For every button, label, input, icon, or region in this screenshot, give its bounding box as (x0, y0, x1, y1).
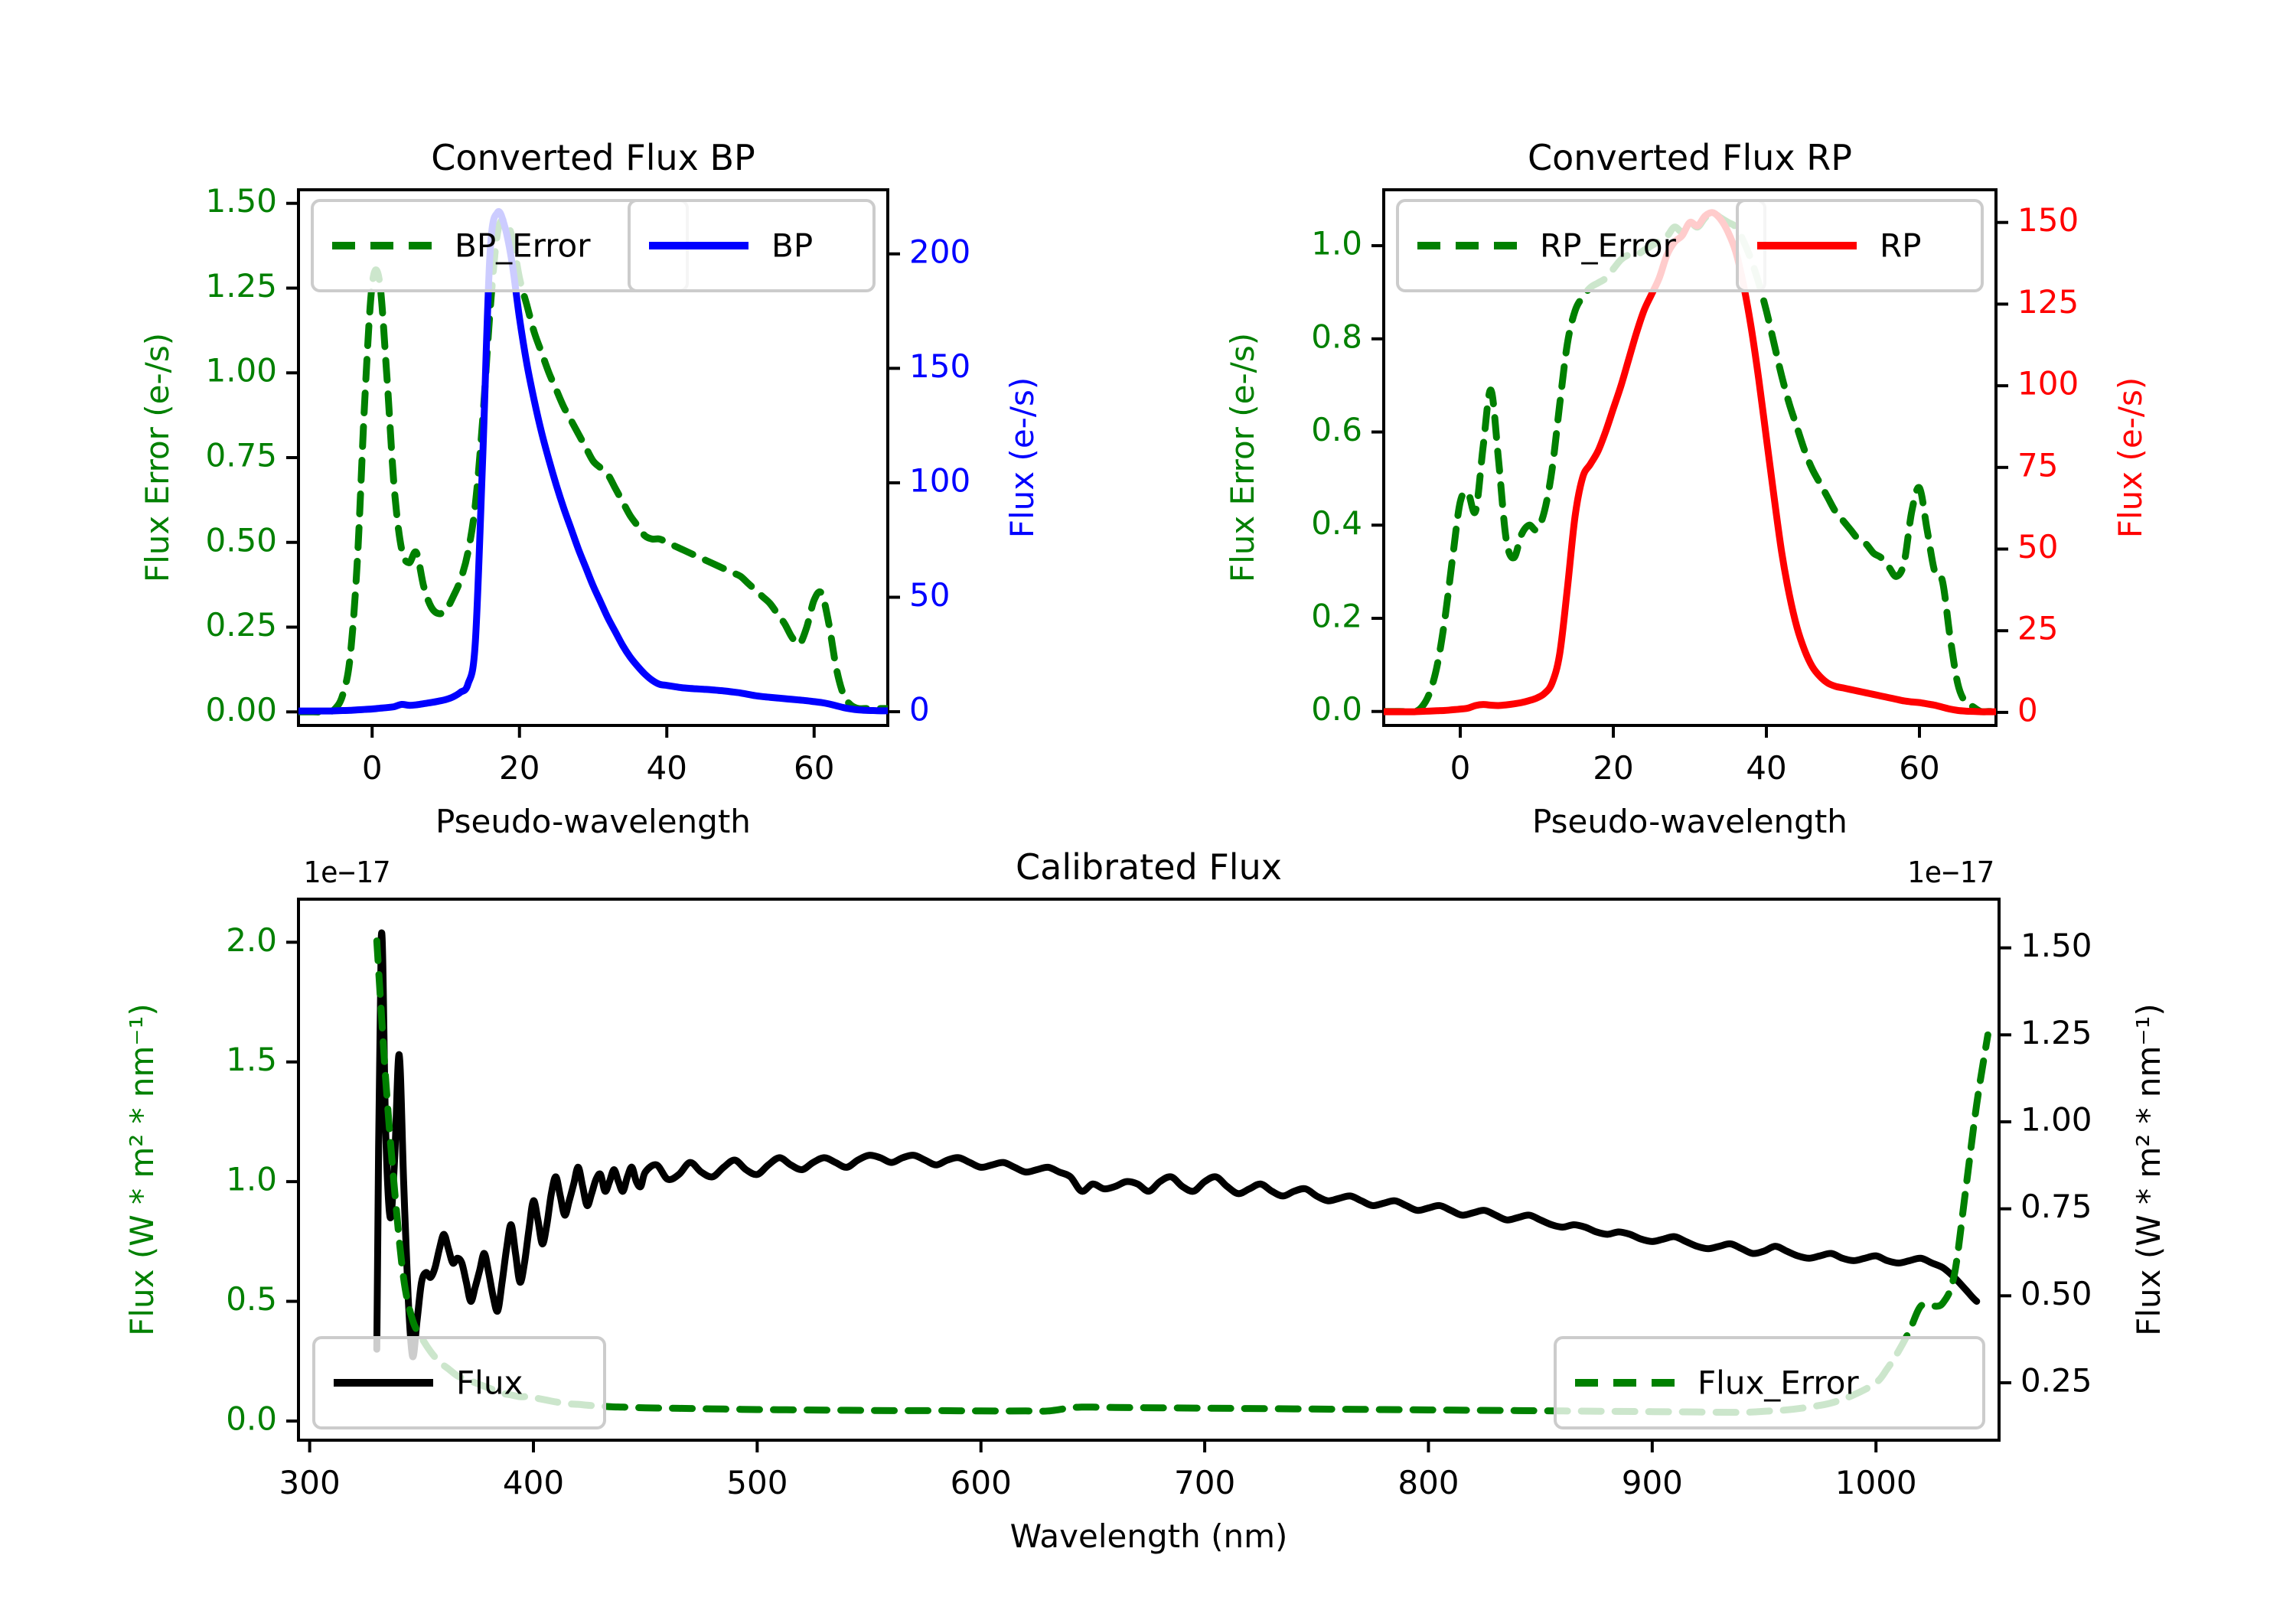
panel-rp-ytick-left-label: 0.0 (1311, 690, 1362, 728)
panel-rp-ytick-right-label: 75 (2017, 446, 2058, 484)
panel-cal-ytick-left-label: 2.0 (226, 921, 277, 959)
panel-cal-ytick-right-label: 0.25 (2020, 1361, 2092, 1399)
panel-cal-ytick-right-label: 1.25 (2020, 1014, 2092, 1051)
panel-bp-xlabel: Pseudo-wavelength (435, 803, 751, 840)
panel-rp-title: Converted Flux RP (1528, 137, 1852, 178)
panel-rp-ylabel-right: Flux (e-/s) (2112, 377, 2149, 538)
panel-rp-xtick-label: 20 (1593, 749, 1633, 787)
panel-bp-ytick-left-label: 0.00 (205, 691, 277, 729)
panel-rp-legend-rp: RP (1737, 200, 1982, 291)
panel-bp-ytick-left-label: 0.50 (205, 521, 277, 559)
panel-bp-ytick-right-label: 50 (909, 576, 950, 614)
panel-bp-ytick-left-label: 0.25 (205, 606, 277, 644)
panel-rp-ytick-left-label: 0.4 (1311, 504, 1362, 542)
figure-svg: Converted Flux BP0204060Pseudo-wavelengt… (0, 0, 2296, 1607)
panel-rp-ytick-right-label: 125 (2017, 283, 2079, 321)
panel-rp-ytick-left-label: 0.2 (1311, 598, 1362, 635)
panel-bp-xtick-label: 60 (794, 749, 834, 787)
panel-bp-ytick-right-label: 150 (909, 347, 970, 385)
panel-cal-series-flux (377, 933, 1976, 1357)
panel-cal-ytick-left-label: 1.5 (226, 1041, 277, 1078)
panel-rp-xlabel: Pseudo-wavelength (1532, 803, 1848, 840)
panel-cal-offset-right-label: 1e−17 (1907, 856, 1994, 889)
panel-cal-xtick-label: 1000 (1835, 1464, 1917, 1501)
panel-rp-xtick-label: 40 (1746, 749, 1786, 787)
panel-bp-ytick-left-label: 0.75 (205, 437, 277, 474)
panel-bp-xtick-label: 40 (647, 749, 687, 787)
panel-bp-xtick-label: 0 (362, 749, 383, 787)
panel-rp-ytick-left-label: 0.6 (1311, 411, 1362, 448)
panel-cal-ytick-left-label: 0.5 (226, 1280, 277, 1318)
panel-cal-ytick-right-label: 0.75 (2020, 1188, 2092, 1225)
panel-bp-ytick-left-label: 1.25 (205, 267, 277, 305)
panel-cal-offset-left-label: 1e−17 (303, 856, 390, 889)
panel-rp-ytick-left-label: 1.0 (1311, 225, 1362, 262)
panel-bp-ylabel-left: Flux Error (e-/s) (139, 333, 176, 582)
panel-cal-ytick-right-label: 1.50 (2020, 927, 2092, 964)
panel-rp-ylabel-left: Flux Error (e-/s) (1224, 333, 1261, 582)
panel-cal-xtick-label: 500 (726, 1464, 788, 1501)
panel-cal-xtick-label: 700 (1174, 1464, 1235, 1501)
panel-bp-legend-bp: BP (629, 200, 874, 291)
panel-cal: Calibrated Flux1e−171e−17300400500600700… (123, 846, 2167, 1555)
panel-rp-ytick-right-label: 50 (2017, 528, 2058, 566)
panel-cal-xtick-label: 800 (1397, 1464, 1459, 1501)
panel-bp-xtick-label: 20 (499, 749, 540, 787)
panel-rp-ytick-right-label: 150 (2017, 201, 2079, 239)
panel-rp-ytick-left-label: 0.8 (1311, 318, 1362, 355)
panel-cal-legend-flux-error: Flux_Error (1555, 1338, 1984, 1428)
panel-bp-ytick-right-label: 100 (909, 461, 970, 499)
panel-bp-legend-bp-error-label: BP_Error (455, 227, 591, 265)
figure-canvas: Converted Flux BP0204060Pseudo-wavelengt… (0, 0, 2296, 1607)
panel-cal-ylabel-left: Flux (W * m² * nm⁻¹) (123, 1003, 161, 1336)
panel-rp-xtick-label: 60 (1899, 749, 1939, 787)
panel-cal-xlabel: Wavelength (nm) (1010, 1517, 1288, 1555)
panel-rp-legend-rp-error: RP_Error (1397, 200, 1765, 291)
panel-bp-ytick-left-label: 1.50 (205, 182, 277, 220)
panel-bp-series-bp_error (298, 220, 888, 712)
panel-bp-ytick-left-label: 1.00 (205, 352, 277, 390)
panel-cal-ytick-right-label: 1.00 (2020, 1100, 2092, 1138)
panel-cal-xtick-label: 600 (951, 1464, 1012, 1501)
panel-cal-legend-flux-error-label: Flux_Error (1698, 1364, 1859, 1402)
panel-cal-legend-flux-label: Flux (456, 1364, 523, 1402)
panel-rp-legend-rp-label: RP (1880, 227, 1922, 265)
panel-cal-ytick-right-label: 0.50 (2020, 1275, 2092, 1312)
panel-cal-ytick-left-label: 1.0 (226, 1161, 277, 1198)
panel-bp-ylabel-right: Flux (e-/s) (1003, 377, 1041, 538)
panel-cal-ytick-left-label: 0.0 (226, 1400, 277, 1437)
panel-bp-title: Converted Flux BP (431, 137, 755, 178)
panel-cal-ylabel-right: Flux (W * m² * nm⁻¹) (2130, 1003, 2167, 1336)
panel-cal-xtick-label: 900 (1622, 1464, 1683, 1501)
panel-rp-ytick-right-label: 100 (2017, 365, 2079, 403)
panel-rp-ytick-right-label: 0 (2017, 691, 2038, 729)
panel-rp: Converted Flux RP0204060Pseudo-wavelengt… (1224, 137, 2149, 840)
panel-cal-xtick-label: 400 (503, 1464, 564, 1501)
panel-rp-legend-rp-error-label: RP_Error (1540, 227, 1677, 265)
panel-cal-legend-flux: Flux (314, 1338, 605, 1428)
panel-bp: Converted Flux BP0204060Pseudo-wavelengt… (139, 137, 1041, 840)
panel-bp-ytick-right-label: 200 (909, 233, 970, 270)
panel-rp-ytick-right-label: 25 (2017, 610, 2058, 647)
panel-cal-xtick-label: 300 (279, 1464, 341, 1501)
panel-bp-legend-bp-label: BP (771, 227, 813, 265)
panel-cal-title: Calibrated Flux (1016, 846, 1282, 888)
panel-rp-xtick-label: 0 (1450, 749, 1471, 787)
panel-bp-ytick-right-label: 0 (909, 691, 930, 729)
